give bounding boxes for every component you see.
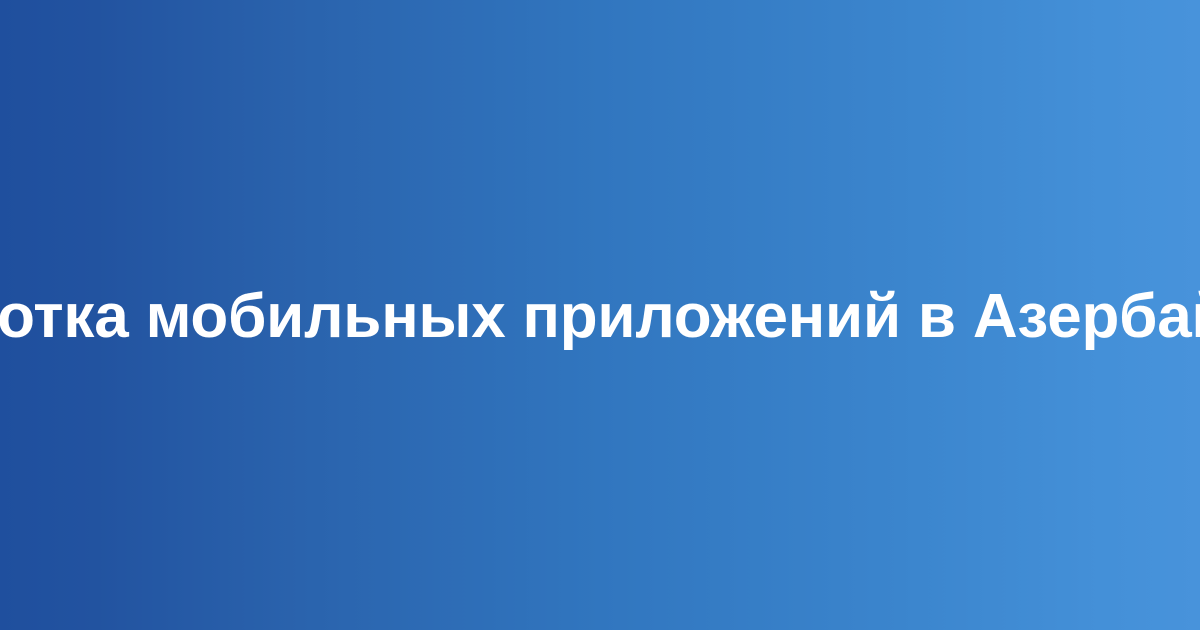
banner-content: Разработка мобильных приложений в Азерба… [0, 282, 1200, 349]
share-banner-card: Разработка мобильных приложений в Азерба… [0, 0, 1200, 630]
banner-title: Разработка мобильных приложений в Азерба… [0, 284, 1200, 351]
